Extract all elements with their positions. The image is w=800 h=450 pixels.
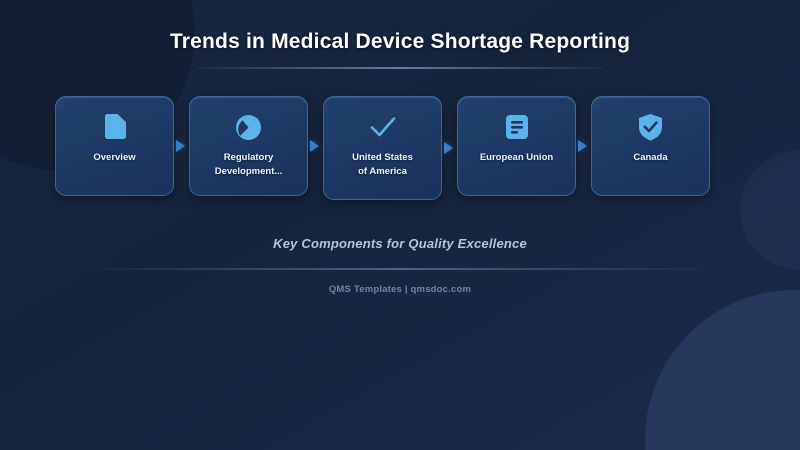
shield-check-icon — [636, 112, 666, 142]
arrow-right-icon — [176, 140, 185, 152]
process-flow-cards: Overview Regulatory Development... — [55, 96, 745, 200]
card-regulatory-development[interactable]: Regulatory Development... — [189, 96, 308, 196]
card-european-union[interactable]: European Union — [457, 96, 576, 196]
checkmark-icon — [368, 112, 398, 142]
document-list-icon — [502, 112, 532, 142]
arrow-right-icon — [310, 140, 319, 152]
slide-subtitle: Key Components for Quality Excellence — [0, 236, 800, 251]
background-circle-bottom-right — [645, 290, 800, 450]
arrow-right-icon — [444, 142, 453, 154]
connector-arrow-1 — [174, 96, 189, 196]
card-united-states[interactable]: United States of America — [323, 96, 442, 200]
slide-canvas: Trends in Medical Device Shortage Report… — [0, 0, 800, 450]
card-wrap-canada: Canada — [591, 96, 710, 196]
arrow-right-icon — [578, 140, 587, 152]
pie-chart-icon — [234, 112, 264, 142]
card-label: United States of America — [345, 151, 420, 178]
card-wrap-european-union: European Union — [457, 96, 591, 196]
card-label: Canada — [626, 151, 674, 165]
connector-arrow-2 — [308, 96, 323, 196]
card-canada[interactable]: Canada — [591, 96, 710, 196]
slide-header: Trends in Medical Device Shortage Report… — [0, 30, 800, 69]
card-label: Regulatory Development... — [190, 151, 307, 178]
footer-attribution: QMS Templates | qmsdoc.com — [0, 284, 800, 295]
card-overview[interactable]: Overview — [55, 96, 174, 196]
document-icon — [100, 112, 130, 142]
card-label: Overview — [86, 151, 142, 165]
card-label: European Union — [473, 151, 560, 165]
card-label-line-2: of America — [358, 166, 407, 177]
background-circle-right-accent — [740, 150, 800, 270]
footer-divider — [100, 268, 700, 270]
page-title: Trends in Medical Device Shortage Report… — [0, 30, 800, 54]
card-label-line-1: United States — [352, 152, 413, 163]
card-wrap-regulatory-development: Regulatory Development... — [189, 96, 323, 196]
card-wrap-united-states: United States of America — [323, 96, 457, 200]
connector-arrow-4 — [576, 96, 591, 196]
title-divider — [197, 67, 603, 69]
connector-arrow-3 — [442, 98, 457, 198]
card-wrap-overview: Overview — [55, 96, 189, 196]
